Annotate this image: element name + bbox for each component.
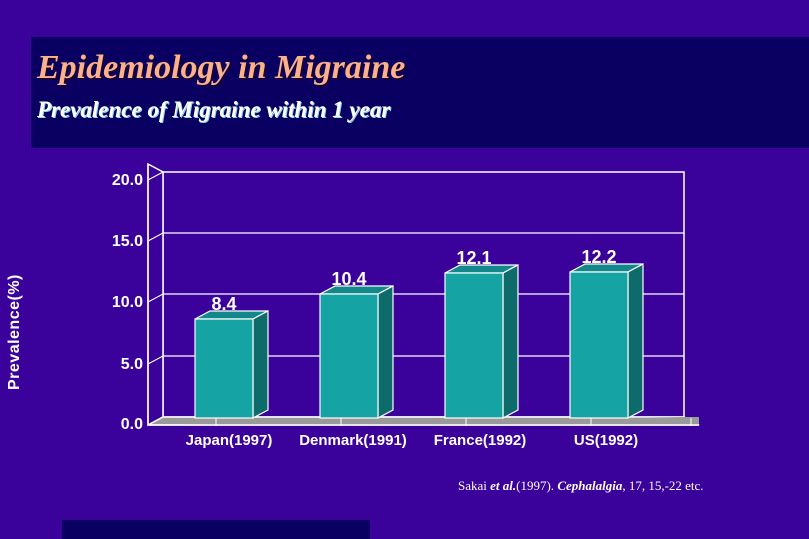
category-label: Denmark(1991) (299, 432, 407, 449)
bar-side-face (253, 311, 268, 418)
page-subtitle: Prevalence of Migraine within 1 year (37, 97, 390, 123)
citation-text: Sakai et al.(1997). Cephalalgia, 17, 15,… (458, 478, 704, 494)
y-tick-label: 15.0 (112, 233, 143, 250)
page-title: Epidemiology in Migraine (37, 49, 405, 87)
bar-front-face (445, 273, 503, 418)
bar-side-face (378, 286, 393, 418)
bar-value-label: 12.2 (581, 247, 616, 267)
y-tick-label: 20.0 (112, 172, 143, 189)
citation-year: (1997). (516, 478, 557, 493)
bar-side-face (503, 265, 518, 418)
category-label: US(1992) (574, 432, 638, 449)
bar-value-label: 10.4 (331, 269, 366, 289)
y-tick-label: 10.0 (112, 294, 143, 311)
bar-chart: 0.0 5.0 10.0 15.0 20.0 Prevalence(%) 8.4 (0, 160, 809, 470)
chart-left-wall (148, 164, 163, 425)
y-axis-tick-labels: 0.0 5.0 10.0 15.0 20.0 (112, 172, 143, 433)
title-banner: Epidemiology in Migraine Prevalence of M… (31, 37, 809, 148)
bar-us[interactable] (570, 264, 643, 418)
chart-svg: 0.0 5.0 10.0 15.0 20.0 Prevalence(%) 8.4 (0, 160, 809, 470)
y-tick-label: 5.0 (121, 356, 143, 373)
bar-value-label: 8.4 (211, 294, 236, 314)
slide-canvas: Epidemiology in Migraine Prevalence of M… (0, 0, 809, 539)
bar-value-label: 12.1 (456, 248, 491, 268)
x-axis-category-labels: Japan(1997) Denmark(1991) France(1992) U… (186, 432, 638, 449)
category-label: France(1992) (434, 432, 527, 449)
citation-pages: , 17, 15,-22 etc. (622, 478, 703, 493)
y-tick-label: 0.0 (121, 416, 143, 433)
bar-denmark[interactable] (320, 286, 393, 418)
citation-journal: Cephalalgia (557, 478, 622, 493)
bar-front-face (195, 319, 253, 418)
bar-japan[interactable] (195, 311, 268, 418)
bar-front-face (570, 272, 628, 418)
bar-front-face (320, 294, 378, 418)
category-label: Japan(1997) (186, 432, 273, 449)
citation-etal: et al. (490, 478, 516, 493)
y-axis-title: Prevalence(%) (6, 274, 23, 390)
bottom-accent-bar (62, 520, 370, 539)
bar-france[interactable] (445, 265, 518, 418)
citation-author: Sakai (458, 478, 490, 493)
bar-side-face (628, 264, 643, 418)
